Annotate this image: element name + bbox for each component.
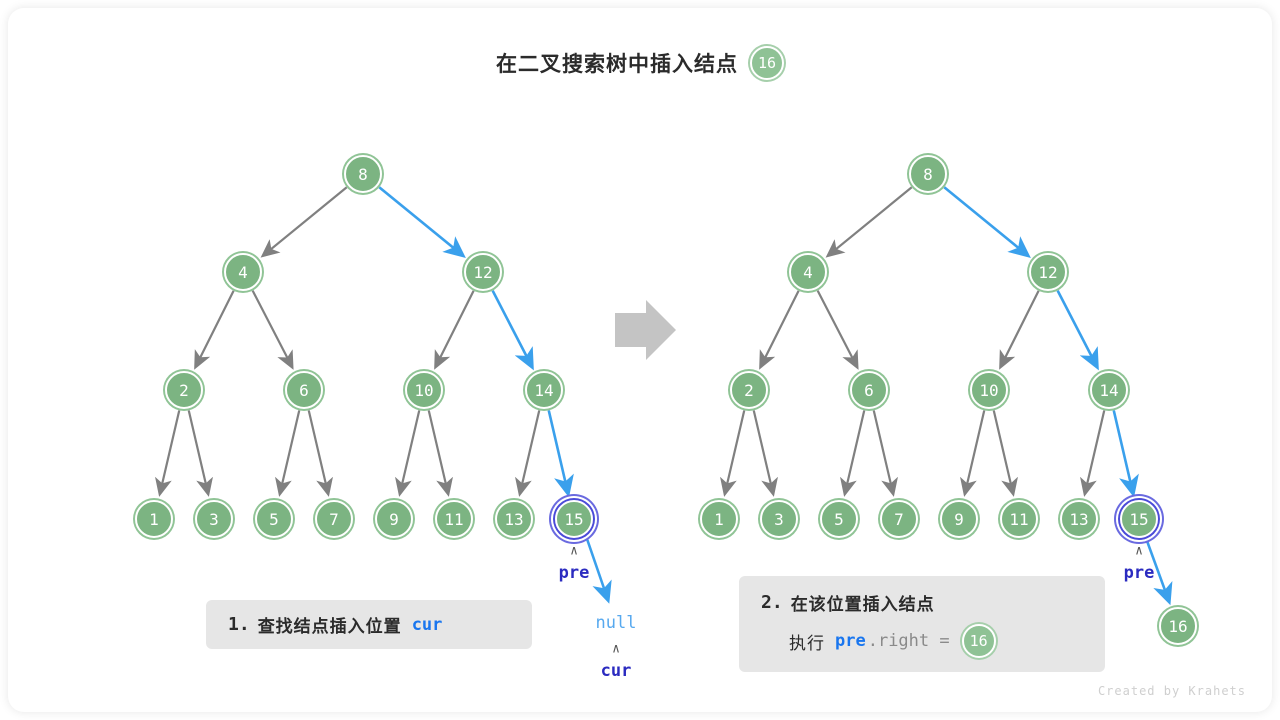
cur-caret: ∧ [612, 642, 620, 657]
caption-2-line2-right: .right = [868, 631, 950, 651]
tree-node-13: 13 [1060, 500, 1098, 538]
pre-label: pre [1124, 563, 1155, 583]
caption-2-number: 2. [761, 592, 783, 613]
tree-node-13: 13 [495, 500, 533, 538]
tree-node-16: 16 [1159, 607, 1197, 645]
caption-1-text: 查找结点插入位置 [258, 612, 402, 637]
tree-node-15: 15 [1120, 500, 1158, 538]
caption-1-code: cur [412, 615, 443, 635]
null-label: null [596, 613, 637, 633]
diagram-card: 在二叉搜索树中插入结点16 841226101413579111315 ∧pre… [8, 8, 1272, 712]
tree-node-9: 9 [940, 500, 978, 538]
caption-2-badge-value: 16 [962, 624, 996, 658]
tree-node-7: 7 [880, 500, 918, 538]
tree-node-12: 12 [1029, 253, 1067, 291]
tree-node-6: 6 [285, 371, 323, 409]
caption-1-number: 1. [228, 614, 250, 635]
tree-node-7: 7 [315, 500, 353, 538]
caption-2-badge: 16 [962, 624, 996, 658]
tree-node-1: 1 [135, 500, 173, 538]
tree-node-8: 8 [344, 155, 382, 193]
tree-node-11: 11 [435, 500, 473, 538]
tree-node-6: 6 [850, 371, 888, 409]
tree-node-5: 5 [820, 500, 858, 538]
tree-node-14: 14 [525, 371, 563, 409]
tree-node-4: 4 [224, 253, 262, 291]
tree-node-9: 9 [375, 500, 413, 538]
tree-node-3: 3 [760, 500, 798, 538]
caption-2-line2-pre: pre [835, 631, 866, 651]
tree-node-2: 2 [730, 371, 768, 409]
tree-node-15: 15 [555, 500, 593, 538]
diagram-stage: 在二叉搜索树中插入结点16 841226101413579111315 ∧pre… [8, 8, 1272, 712]
caption-2-text: 在该位置插入结点 [791, 590, 935, 615]
caption-2-line2-prefix: 执行 [789, 629, 825, 654]
pre-caret: ∧ [570, 544, 578, 559]
caption-step-1: 1. 查找结点插入位置 cur [206, 600, 532, 649]
cur-label: cur [601, 661, 632, 681]
footer-credit: Created by Krahets [1098, 684, 1246, 698]
tree-node-10: 10 [405, 371, 443, 409]
right-arrow-icon [615, 300, 676, 360]
tree-node-1: 1 [700, 500, 738, 538]
tree-node-14: 14 [1090, 371, 1128, 409]
pre-caret: ∧ [1135, 544, 1143, 559]
tree-node-12: 12 [464, 253, 502, 291]
tree-node-10: 10 [970, 371, 1008, 409]
tree-node-8: 8 [909, 155, 947, 193]
tree-node-3: 3 [195, 500, 233, 538]
tree-node-11: 11 [1000, 500, 1038, 538]
tree-node-4: 4 [789, 253, 827, 291]
tree-node-2: 2 [165, 371, 203, 409]
tree-node-5: 5 [255, 500, 293, 538]
pre-label: pre [559, 563, 590, 583]
caption-step-2: 2. 在该位置插入结点 执行 pre .right = 16 [739, 576, 1105, 672]
